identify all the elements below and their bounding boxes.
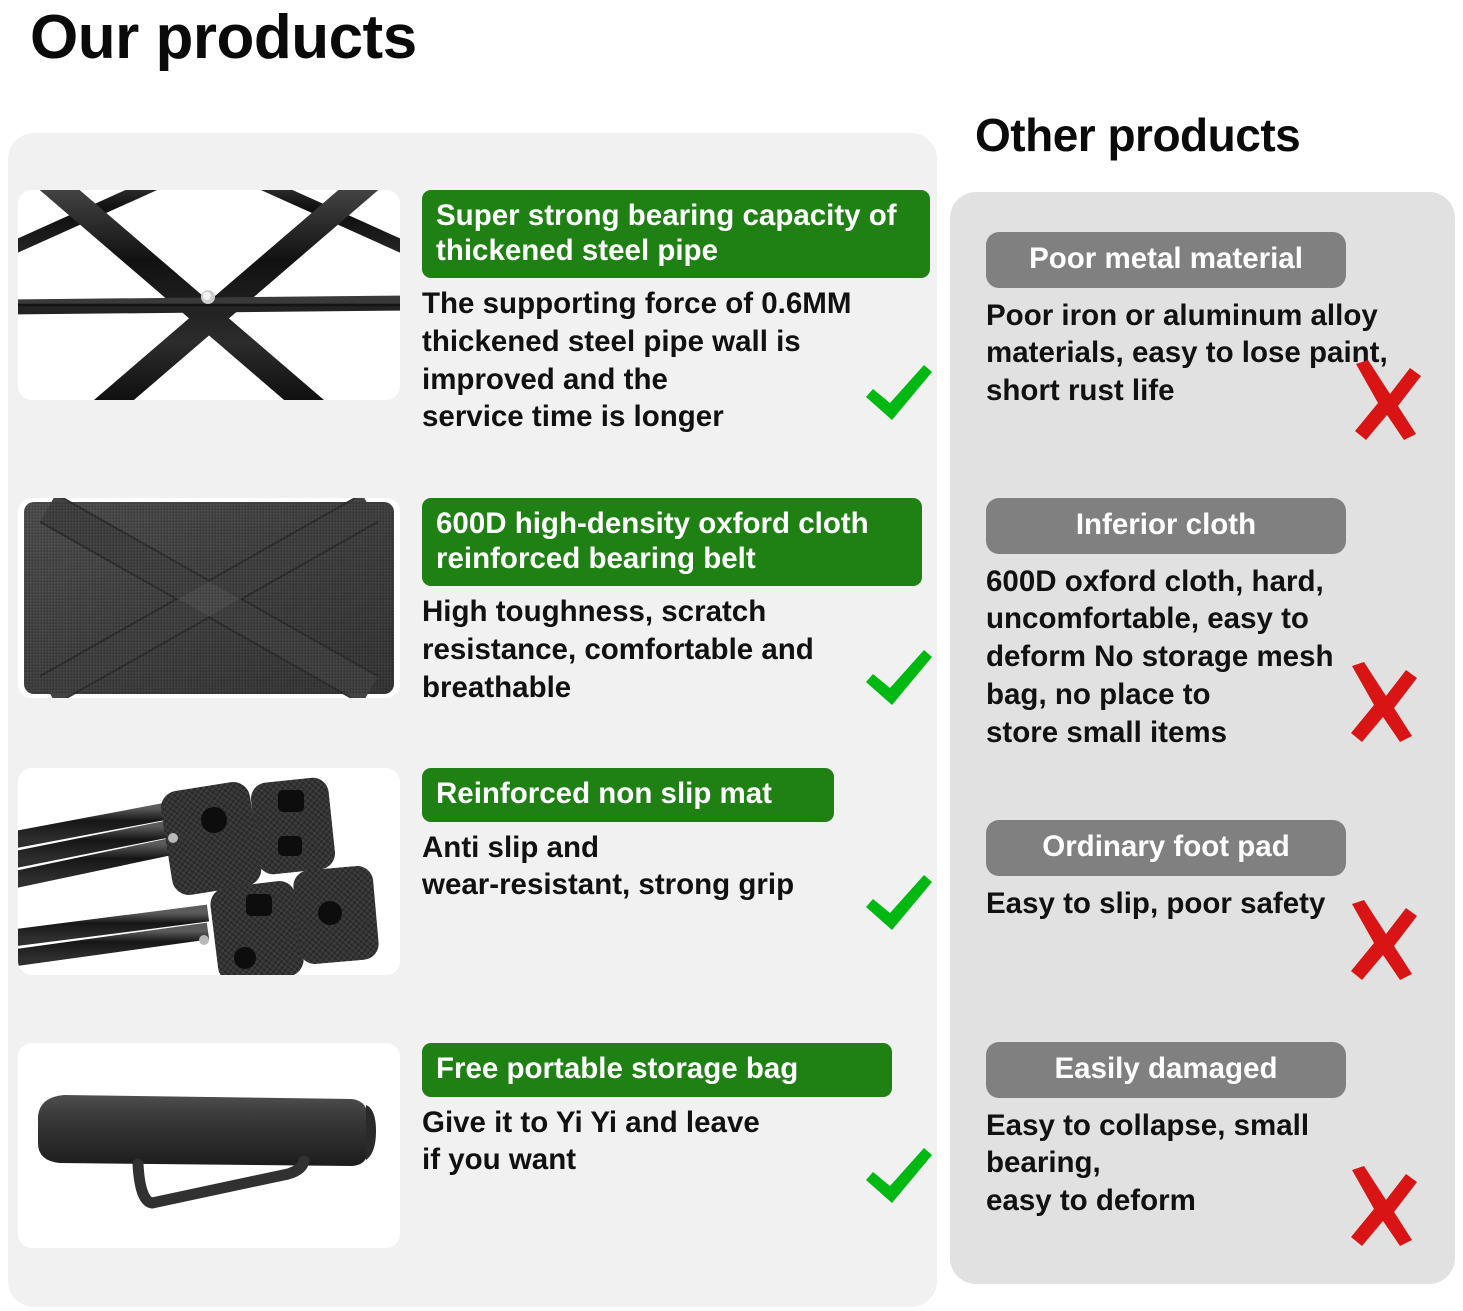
feature-description: Anti slip and wear-resistant, strong gri… (422, 829, 932, 905)
portable-storage-bag-photo (18, 1043, 400, 1248)
crossed-steel-pipes-photo (18, 190, 400, 400)
con-row: Inferior cloth 600D oxford cloth, hard, … (986, 498, 1426, 751)
cross-mark-icon (1342, 358, 1428, 444)
feature-row: Reinforced non slip mat Anti slip and we… (18, 768, 932, 975)
oxford-cloth-bearing-belt-photo (18, 498, 400, 698)
feature-badge: Reinforced non slip mat (422, 768, 834, 822)
cross-mark-icon (1338, 1164, 1424, 1250)
feature-badge: 600D high-density oxford cloth reinforce… (422, 498, 922, 586)
page-title-our-products: Our products (30, 2, 417, 73)
con-row: Easily damaged Easy to collapse, small b… (986, 1042, 1426, 1220)
feature-row: Free portable storage bag Give it to Yi … (18, 1043, 932, 1248)
feature-badge: Free portable storage bag (422, 1043, 892, 1097)
con-badge: Easily damaged (986, 1042, 1346, 1098)
check-mark-icon (862, 648, 936, 708)
check-mark-icon (862, 1146, 936, 1206)
con-row: Poor metal material Poor iron or aluminu… (986, 232, 1426, 410)
con-badge: Ordinary foot pad (986, 820, 1346, 876)
check-mark-icon (862, 363, 936, 423)
feature-description: Give it to Yi Yi and leave if you want (422, 1104, 932, 1180)
feature-description: High toughness, scratch resistance, comf… (422, 593, 932, 706)
feature-row: Super strong bearing capacity of thicken… (18, 190, 932, 436)
cross-mark-icon (1338, 898, 1424, 984)
feature-row: 600D high-density oxford cloth reinforce… (18, 498, 932, 706)
non-slip-foot-pads-photo (18, 768, 400, 975)
con-badge: Inferior cloth (986, 498, 1346, 554)
con-badge: Poor metal material (986, 232, 1346, 288)
cross-mark-icon (1338, 660, 1424, 746)
feature-description: The supporting force of 0.6MM thickened … (422, 285, 932, 436)
page-title-other-products: Other products (975, 108, 1300, 162)
check-mark-icon (862, 873, 936, 933)
feature-badge: Super strong bearing capacity of thicken… (422, 190, 930, 278)
con-row: Ordinary foot pad Easy to slip, poor saf… (986, 820, 1426, 922)
